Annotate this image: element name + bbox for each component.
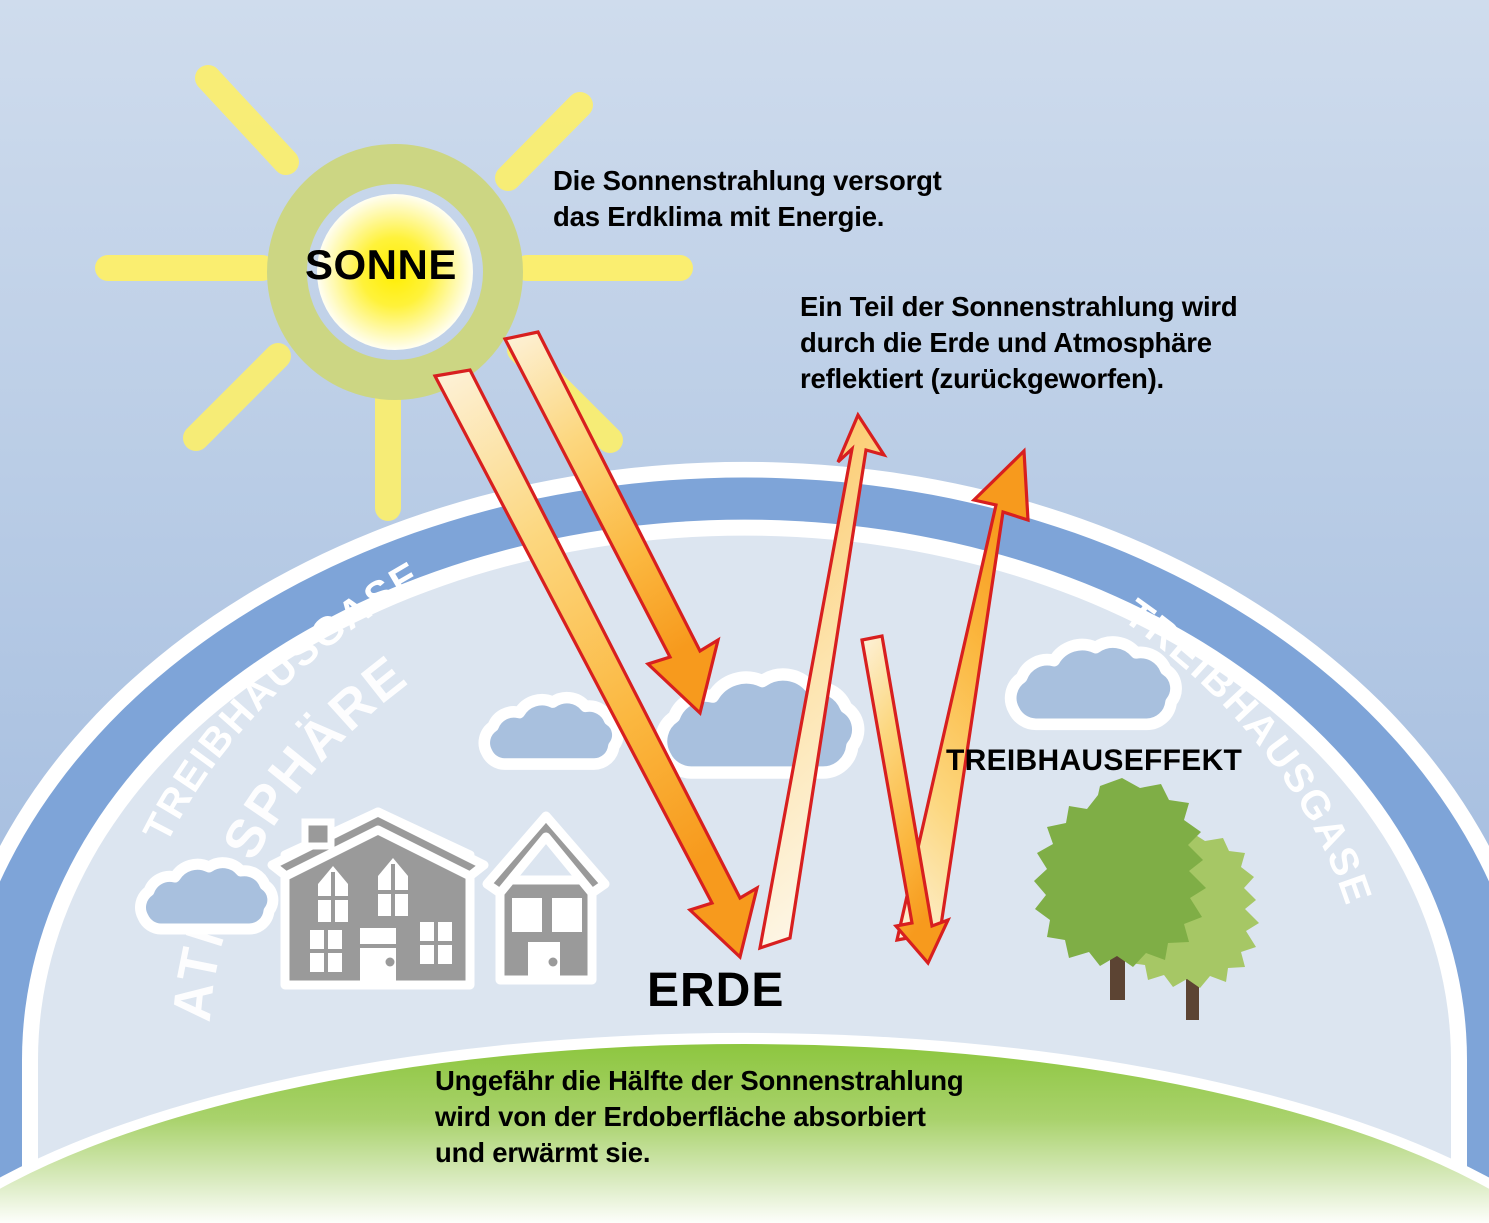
house-right-window-right [552,898,582,932]
house-right-window-left [512,898,542,932]
greenhouse-effect-label: TREIBHAUSEFFEKT [946,744,1242,778]
house-right-doorknob [549,958,558,967]
house-left-doorknob [386,958,395,967]
greenhouse-effect-diagram: TREIBHAUSGASE TREIBHAUSGASE ATMOSPHÄRE [0,0,1489,1223]
house-group [272,812,605,985]
earth-label: ERDE [647,963,784,1018]
cloud-left-low [141,863,273,929]
house-left-chimney [305,822,331,846]
caption-reflected-radiation: Ein Teil der Sonnenstrahlung wird durch … [800,289,1238,396]
house-left-door [360,928,396,985]
sun-label: SONNE [305,241,457,289]
caption-sun-radiation: Die Sonnenstrahlung versorgt das Erdklim… [553,163,942,235]
caption-absorbed-radiation: Ungefähr die Hälfte der Sonnenstrahlung … [435,1063,964,1170]
